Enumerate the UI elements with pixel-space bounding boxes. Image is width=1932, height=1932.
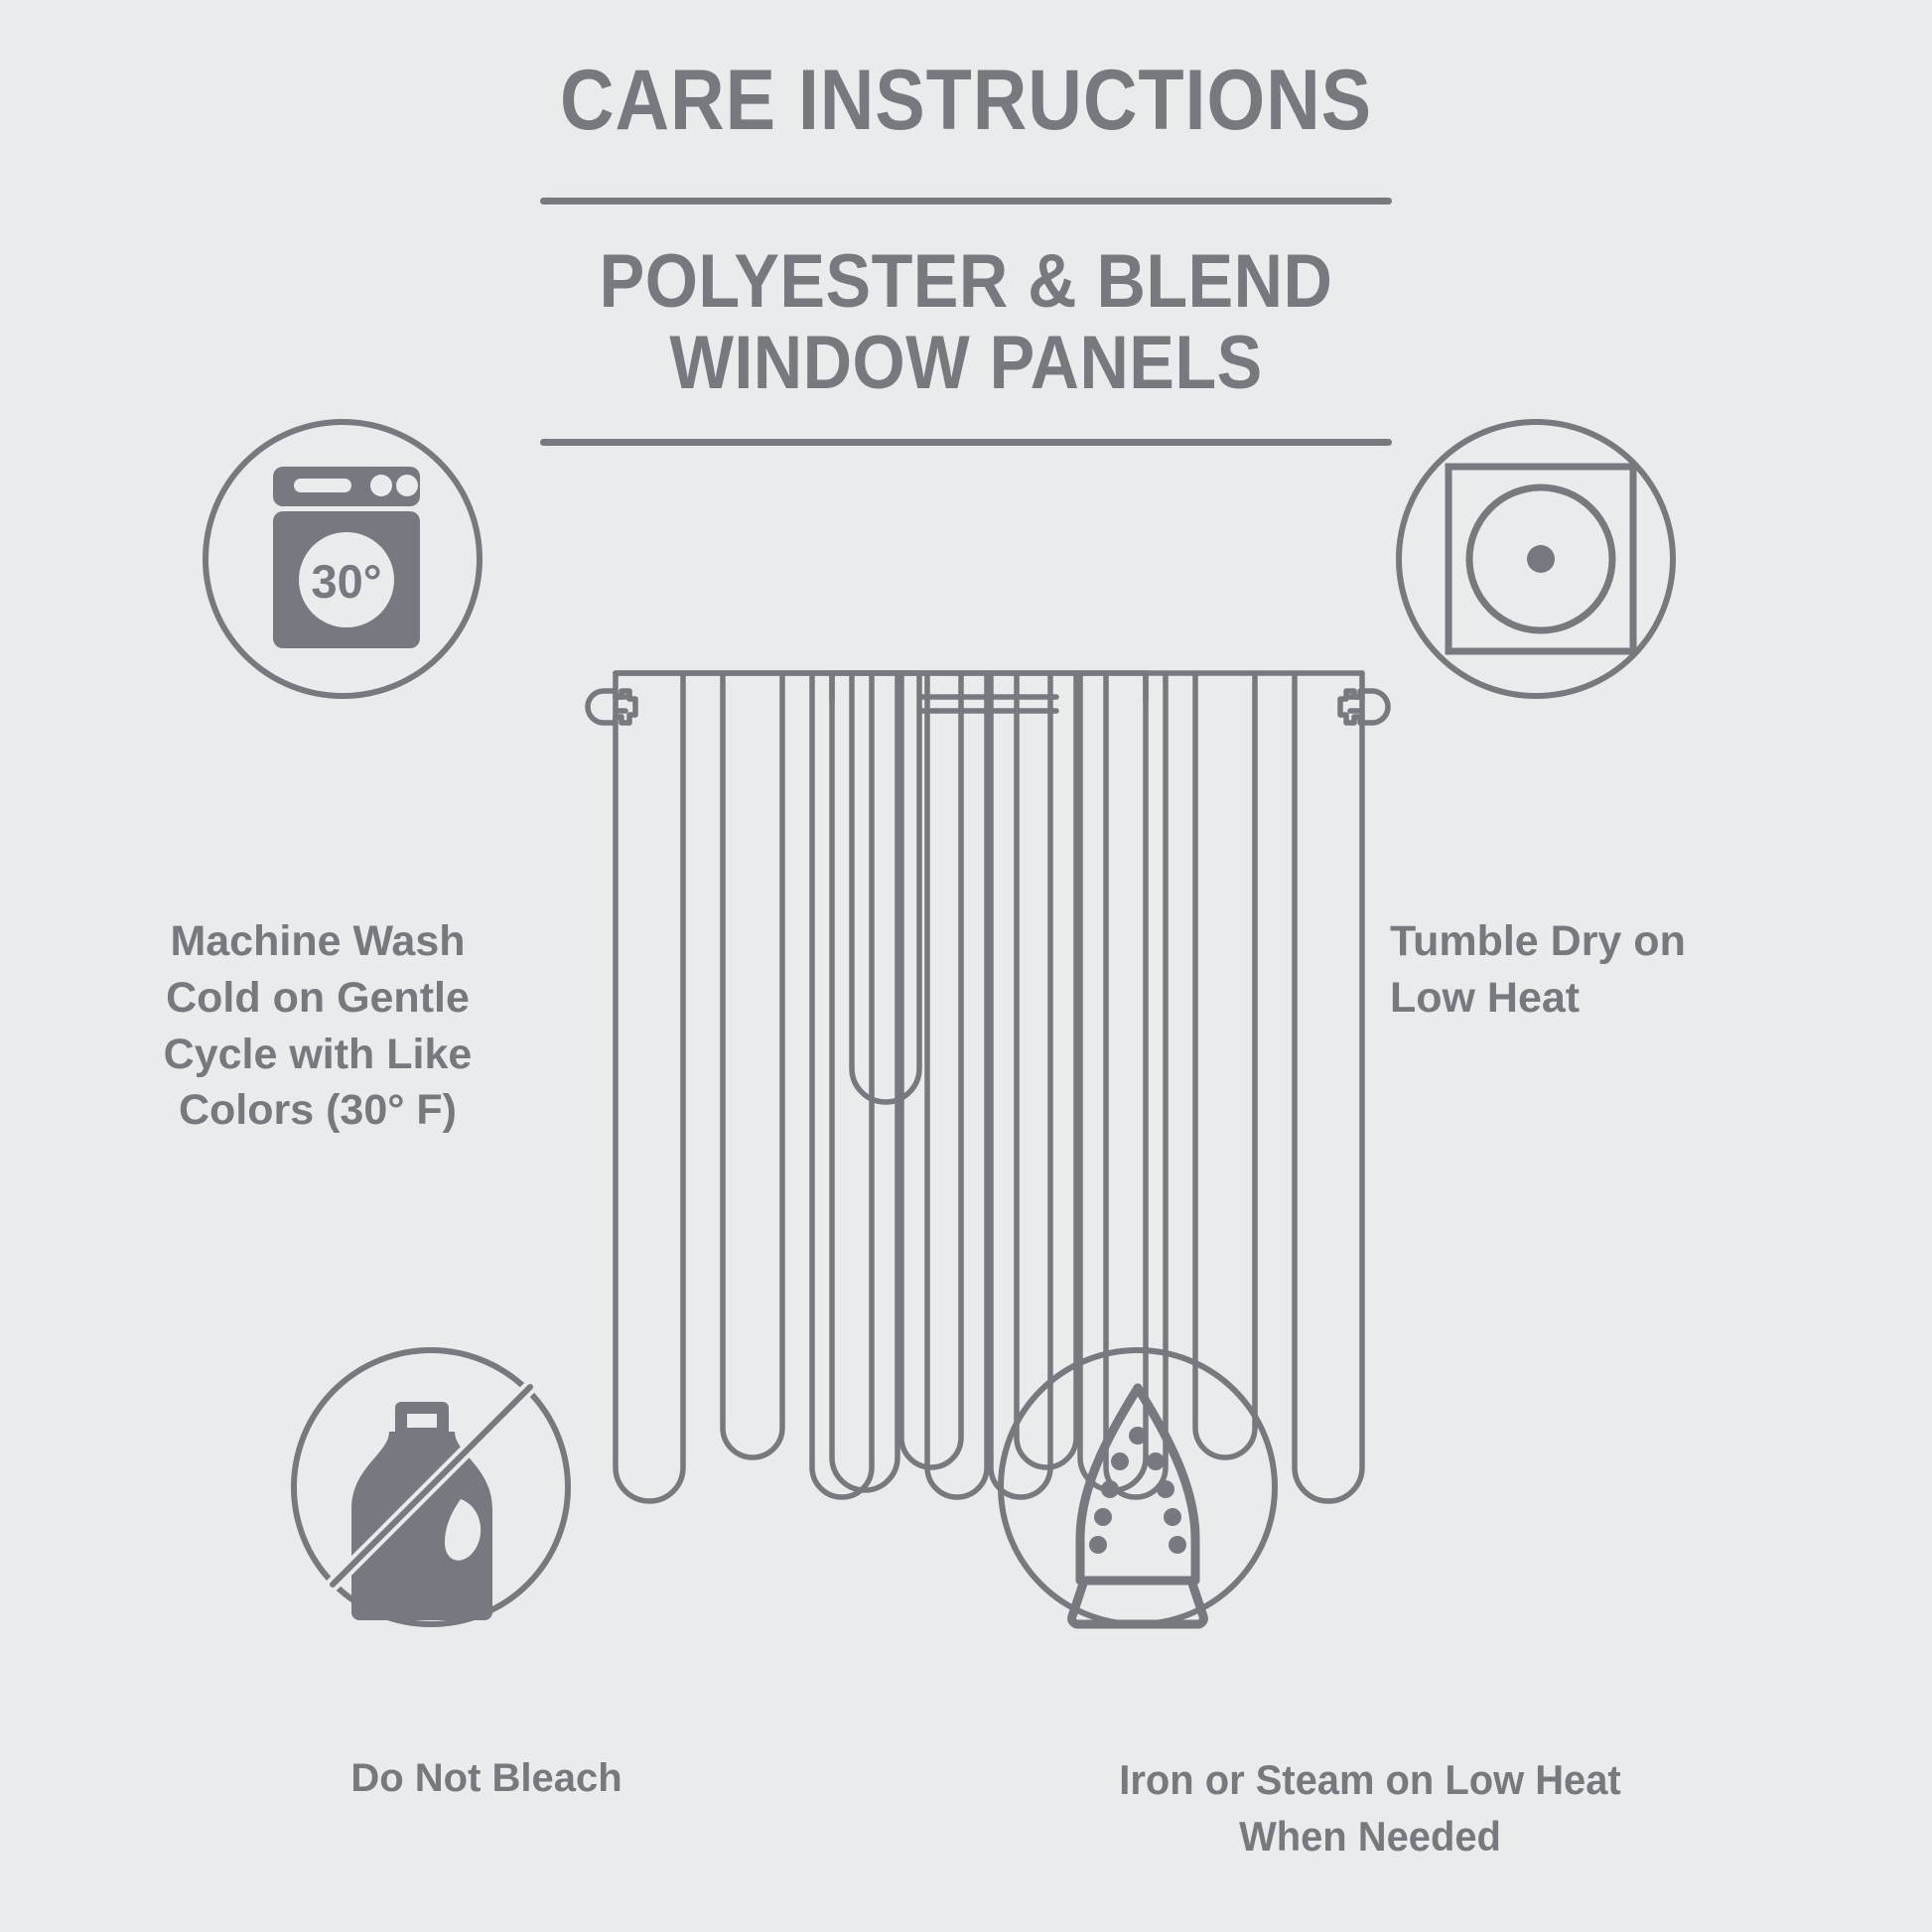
rod-stub-right bbox=[1350, 697, 1358, 711]
right-panel-pleat-6 bbox=[832, 673, 897, 1490]
left-panel-pleat-3 bbox=[812, 673, 872, 1497]
iron-badge bbox=[993, 1342, 1283, 1632]
machine-wash-caption: Machine Wash Cold on Gentle Cycle with L… bbox=[104, 913, 531, 1139]
divider-bottom bbox=[540, 439, 1392, 446]
right-panel-edge-1 bbox=[1295, 673, 1362, 1501]
left-panel-edge-1 bbox=[616, 673, 683, 1501]
right-panel-header bbox=[832, 673, 1362, 701]
tumble-dry-badge bbox=[1392, 415, 1680, 703]
washing-machine-icon: 30° bbox=[199, 415, 486, 703]
right-panel-pleat-5 bbox=[927, 673, 987, 1497]
iron-icon bbox=[993, 1342, 1283, 1632]
curtain-svg bbox=[556, 635, 1420, 1519]
left-panel-pleat-4 bbox=[901, 673, 961, 1467]
washer-knob-1 bbox=[370, 475, 392, 496]
machine-wash-badge: 30° bbox=[199, 415, 486, 703]
washer-temperature-label: 30° bbox=[311, 555, 381, 608]
right-panel-pleat-2 bbox=[1195, 673, 1255, 1457]
care-instructions-card: CARE INSTRUCTIONS POLYESTER & BLEND WIND… bbox=[0, 0, 1932, 1932]
subtitle-line-1: POLYESTER & BLEND bbox=[96, 205, 1835, 322]
divider-top bbox=[540, 198, 1392, 205]
bottle-cap bbox=[401, 1408, 443, 1434]
left-panel-pleat-2 bbox=[723, 673, 782, 1457]
left-panel-header bbox=[616, 673, 1146, 701]
iron-caption: Iron or Steam on Low Heat When Needed bbox=[1012, 1752, 1728, 1864]
subtitle-line-2: WINDOW PANELS bbox=[96, 322, 1835, 403]
window-panels-illustration bbox=[556, 635, 1420, 1524]
rod-stub-left bbox=[618, 697, 625, 711]
page-title: CARE INSTRUCTIONS bbox=[116, 0, 1816, 143]
do-not-bleach-badge bbox=[286, 1342, 576, 1632]
washer-knob-2 bbox=[396, 475, 418, 496]
tumble-dry-caption: Tumble Dry on Low Heat bbox=[1390, 913, 1817, 1027]
dryer-low-heat-dot bbox=[1527, 545, 1555, 573]
tumble-dry-icon bbox=[1392, 415, 1680, 703]
washer-detergent-slot bbox=[294, 479, 351, 492]
header: CARE INSTRUCTIONS POLYESTER & BLEND WIND… bbox=[0, 0, 1932, 446]
rod-finial-left bbox=[588, 691, 635, 723]
do-not-bleach-icon bbox=[286, 1342, 576, 1632]
do-not-bleach-caption: Do Not Bleach bbox=[208, 1752, 764, 1805]
